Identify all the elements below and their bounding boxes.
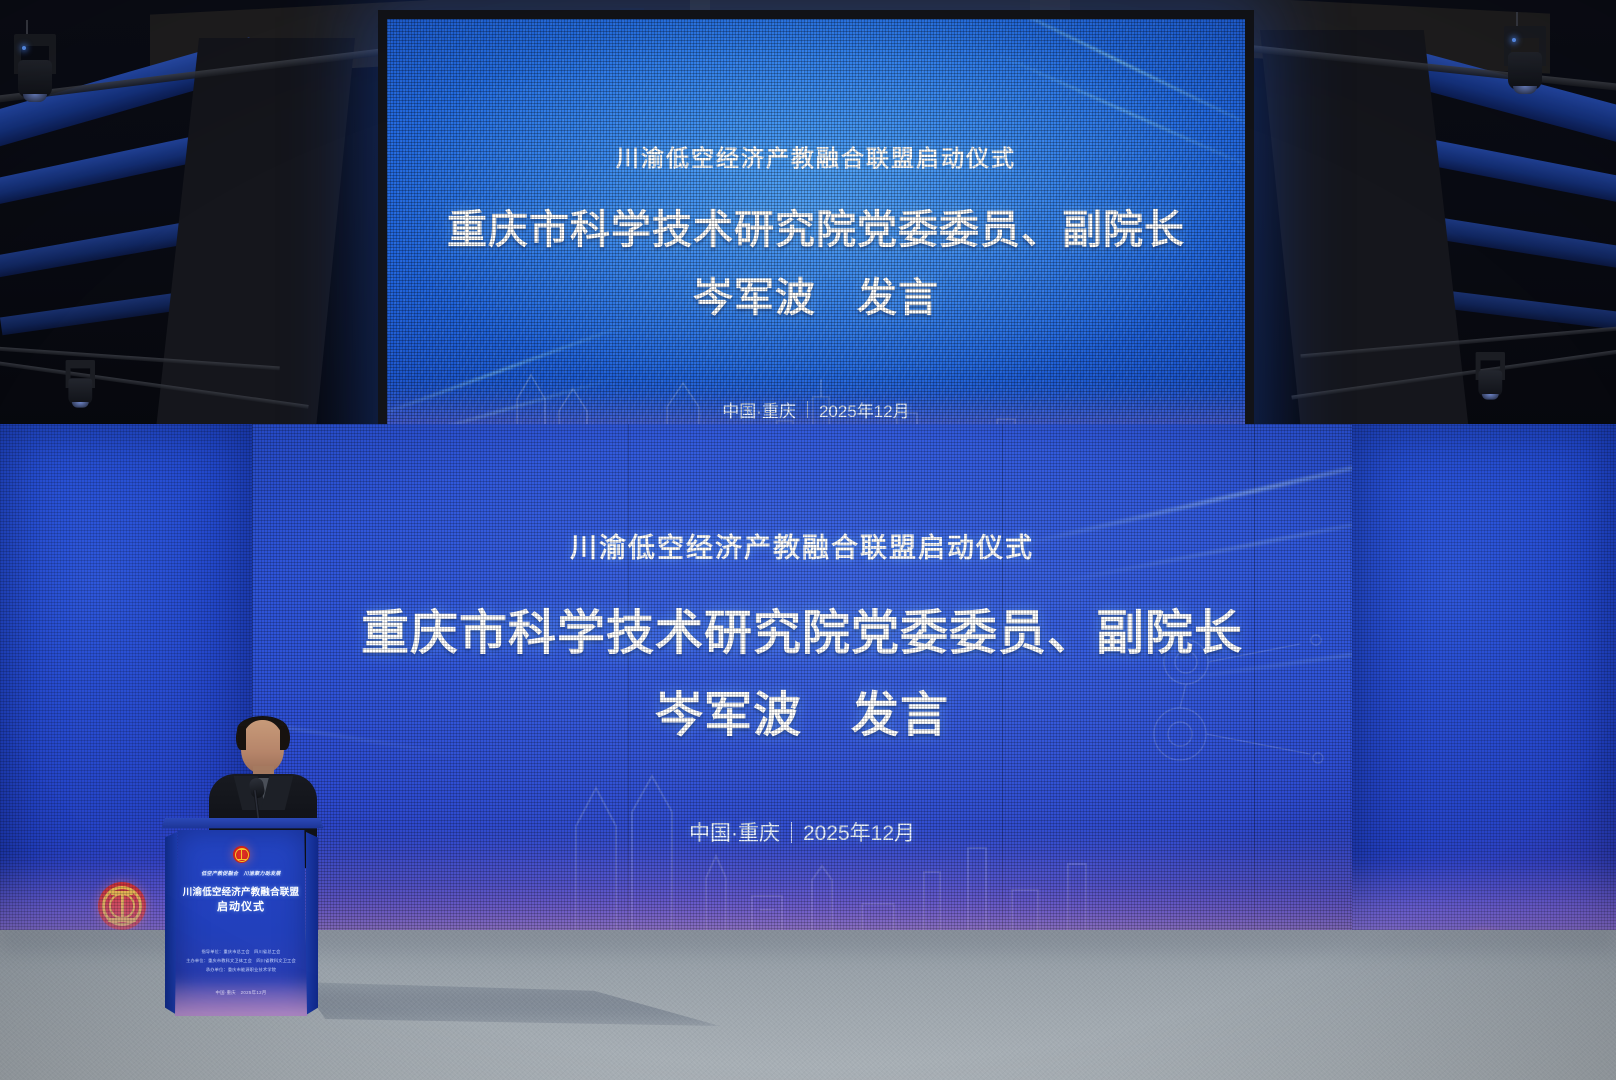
screen-date-block: 中国·重庆 2025年12月: [387, 397, 1245, 422]
wall-eyebrow-title: 川渝低空经济产教融合联盟启动仪式: [252, 526, 1352, 565]
podium-title-line2: 启动仪式: [175, 898, 307, 914]
event-stage-photo: 川渝低空经济产教融合联盟启动仪式 重庆市科学技术研究院党委委员、副院长 岑军波 …: [0, 0, 1616, 1080]
stage-drape: [155, 38, 355, 438]
screen-date-label: 2025年12月: [819, 397, 910, 422]
speaker-hair-side: [280, 726, 290, 750]
screen-surface: 川渝低空经济产教融合联盟启动仪式 重庆市科学技术研究院党委委员、副院长 岑军波 …: [387, 19, 1245, 479]
light-lens: [1482, 394, 1499, 400]
emblem-bar-bottom: [237, 859, 247, 860]
divider: [791, 822, 792, 843]
podium-organizer-line2: 主办单位：重庆市教科文卫体工会 四川省教科文卫工会: [175, 957, 307, 965]
podium: 低空产教促融合 川渝聚力助发展 川渝低空经济产教融合联盟 启动仪式 指导单位：重…: [165, 818, 320, 1018]
podium-top-surface: [161, 818, 323, 828]
wall-headline-line2: 岑军波 发言: [252, 675, 1352, 745]
screen-location-label: 中国·重庆: [722, 397, 796, 422]
podium-side-panel: [165, 832, 177, 1015]
light-head: [1508, 52, 1542, 90]
podium-bottom-glow: [175, 976, 307, 1016]
screen-headline-line2: 岑军波 发言: [387, 265, 1245, 323]
wall-text-block: 川渝低空经济产教融合联盟启动仪式 重庆市科学技术研究院党委委员、副院长 岑军波 …: [252, 526, 1352, 745]
screen-headline-line1: 重庆市科学技术研究院党委委员、副院长: [387, 197, 1245, 255]
screen-text-block: 川渝低空经济产教融合联盟启动仪式 重庆市科学技术研究院党委委员、副院长 岑军波 …: [387, 139, 1245, 323]
light-head: [1478, 370, 1502, 397]
light-head: [18, 60, 52, 98]
trade-union-emblem: [233, 846, 250, 863]
screen-eyebrow-title: 川渝低空经济产教融合联盟启动仪式: [387, 139, 1245, 173]
screen-frame: 川渝低空经济产教融合联盟启动仪式 重庆市科学技术研究院党委委员、副院长 岑军波 …: [378, 10, 1254, 488]
emblem-bar-bottom: [108, 918, 136, 922]
light-lens: [72, 402, 89, 408]
light-streak: [964, 19, 1245, 135]
wall-location-label: 中国·重庆: [689, 817, 780, 847]
podium-organizer-line1: 指导单位：重庆市总工会 四川省总工会: [175, 948, 307, 956]
podium-floor-shadow: [300, 982, 720, 1026]
banner-right: 低空产教促融合 川渝聚力助发展 川渝低空经济 产教融合联盟启动仪式: [1352, 424, 1616, 954]
trade-union-emblem: [98, 882, 146, 930]
podium-slogan: 低空产教促融合 川渝聚力助发展: [175, 870, 307, 877]
emblem-bar-top: [238, 849, 246, 850]
speaker-hair-side: [236, 726, 246, 750]
wall-date-block: 中国·重庆 2025年12月: [252, 817, 1352, 847]
emblem-bar-top: [111, 891, 133, 895]
light-head: [68, 378, 92, 405]
indicator-led: [22, 46, 26, 50]
podium-front-panel: 低空产教促融合 川渝聚力助发展 川渝低空经济产教融合联盟 启动仪式 指导单位：重…: [175, 830, 307, 1016]
podium-title-line1: 川渝低空经济产教融合联盟: [175, 884, 307, 898]
podium-side-panel: [306, 832, 318, 1015]
indicator-led: [1512, 38, 1516, 42]
divider: [807, 401, 808, 418]
wall-date-label: 2025年12月: [803, 817, 915, 847]
podium-organizer-line3: 承办单位：重庆市能源职业技术学院: [175, 966, 307, 974]
wall-headline-line1: 重庆市科学技术研究院党委委员、副院长: [252, 593, 1352, 663]
